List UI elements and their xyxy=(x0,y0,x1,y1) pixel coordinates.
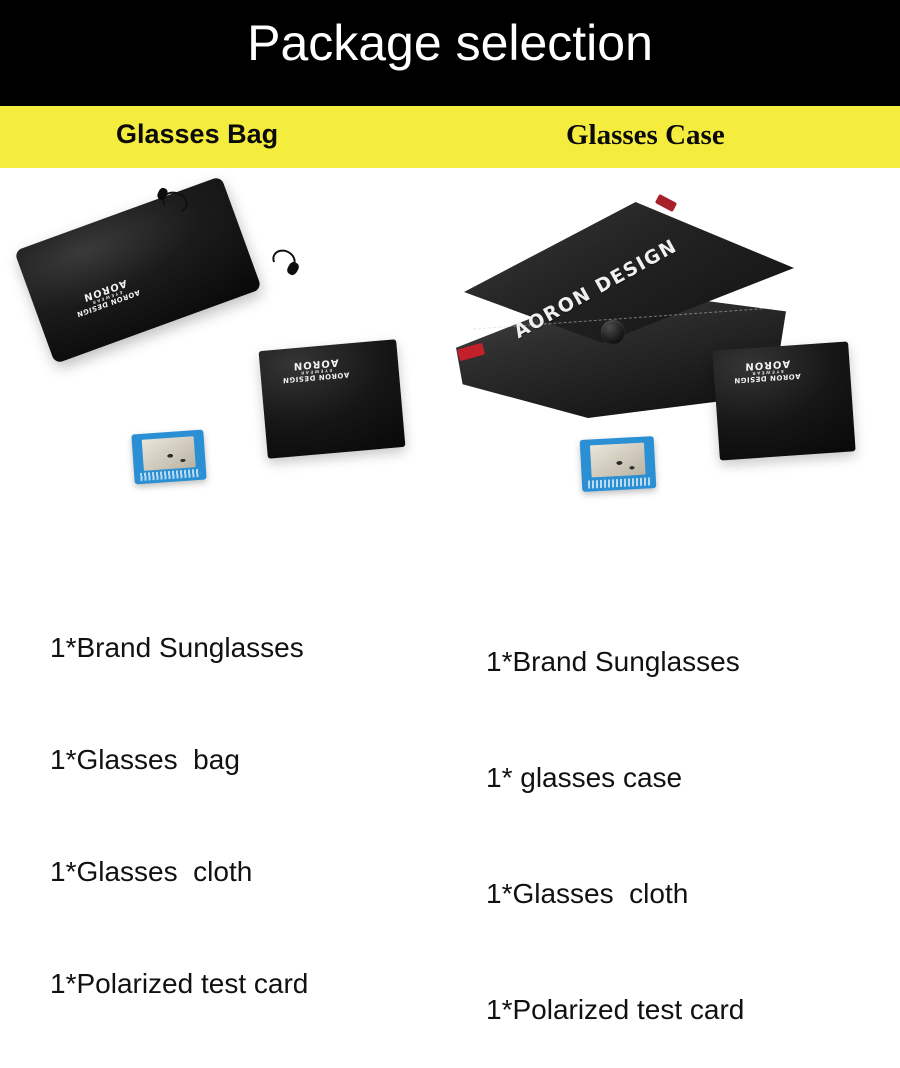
list-item: 1*Brand Sunglasses xyxy=(486,636,744,688)
test-card-microtext xyxy=(588,477,651,489)
contents-list-glasses-case: 1*Brand Sunglasses 1* glasses case 1*Gla… xyxy=(486,572,744,1068)
case-red-accent-top xyxy=(655,194,677,212)
list-item: 1*Polarized test card xyxy=(50,960,308,1008)
list-item: 1* glasses case xyxy=(486,752,744,804)
contents-list-glasses-bag: 1*Brand Sunglasses 1*Glasses bag 1*Glass… xyxy=(50,560,308,1040)
case-snap-button xyxy=(601,320,625,344)
drawstring-pouch: AORON DESIGN EYEWEAR AORON xyxy=(14,176,262,364)
column-heading-glasses-bag: Glasses Bag xyxy=(116,119,278,150)
list-item: 1*Glasses cloth xyxy=(486,868,744,920)
pouch-brand-logo: AORON DESIGN EYEWEAR AORON xyxy=(72,273,140,317)
list-item: 1*Glasses bag xyxy=(50,736,308,784)
list-item: 1*Polarized test card xyxy=(486,984,744,1036)
list-item: 1*Brand Sunglasses xyxy=(50,624,308,672)
page-title: Package selection xyxy=(0,12,900,74)
test-card-microtext xyxy=(140,469,201,481)
cloth-brand-logo: AORON DESIGN EYEWEAR AORON xyxy=(734,357,801,384)
polarized-test-card xyxy=(131,430,206,485)
polarized-test-card xyxy=(580,436,657,492)
cleaning-cloth: AORON DESIGN EYEWEAR AORON xyxy=(712,341,855,460)
list-item: 1*Glasses cloth xyxy=(50,848,308,896)
product-photo-glasses-case: AORON DESIGN AORON DESIGN EYEWEAR AORON xyxy=(450,170,900,530)
cleaning-cloth: AORON DESIGN EYEWEAR AORON xyxy=(259,339,406,459)
column-heading-glasses-case: Glasses Case xyxy=(566,119,725,152)
cloth-brand-logo: AORON DESIGN EYEWEAR AORON xyxy=(282,355,349,383)
product-photo-glasses-bag: AORON DESIGN EYEWEAR AORON AORON DESIGN … xyxy=(0,170,450,530)
